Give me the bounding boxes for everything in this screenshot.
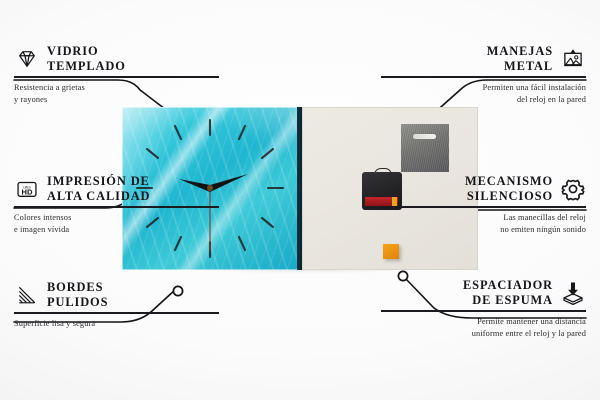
feature-description: Permite mantener una distancia uniforme … <box>381 316 586 340</box>
wall-frame-icon <box>560 46 586 72</box>
divider <box>381 206 586 208</box>
title-line-2: METAL <box>487 59 553 74</box>
feature-description: Colores intensos e imagen vívida <box>14 212 219 236</box>
desc-line-2: del reloj en la pared <box>381 94 586 106</box>
feature-title: BORDES PULIDOS <box>47 280 108 309</box>
divider <box>14 312 219 314</box>
metal-hanger-plate <box>401 124 449 172</box>
title-line-1: ESPACIADOR <box>463 278 553 293</box>
desc-line-1: Permiten una fácil instalación <box>381 82 586 94</box>
desc-line-2: y rayones <box>14 94 219 106</box>
title-line-1: MANEJAS <box>487 44 553 59</box>
title-line-2: DE ESPUMA <box>463 293 553 308</box>
desc-line-2: no emiten ningún sonido <box>381 224 586 236</box>
feature-vidrio-templado: VIDRIO TEMPLADO Resistencia a grietas y … <box>14 44 219 106</box>
diamond-icon <box>14 46 40 72</box>
title-line-2: PULIDOS <box>47 295 108 310</box>
feature-title: ESPACIADOR DE ESPUMA <box>463 278 553 307</box>
feature-title: VIDRIO TEMPLADO <box>47 44 126 73</box>
foam-spacer-icon <box>560 280 586 306</box>
foam-spacer <box>383 244 399 259</box>
title-line-1: MECANISMO <box>465 174 553 189</box>
title-line-1: IMPRESIÓN DE <box>47 174 150 189</box>
feature-description: Las manecillas del reloj no emiten ningú… <box>381 212 586 236</box>
desc-line-1: Colores intensos <box>14 212 219 224</box>
title-line-2: ALTA CALIDAD <box>47 189 150 204</box>
feature-title: MECANISMO SILENCIOSO <box>465 174 553 203</box>
feature-bordes-pulidos: BORDES PULIDOS Superficie lisa y segura <box>14 280 219 330</box>
feature-impresion-alta-calidad: ultra HD IMPRESIÓN DE ALTA CALIDAD Color… <box>14 174 219 236</box>
feature-description: Superficie lisa y segura <box>14 318 219 330</box>
title-line-2: SILENCIOSO <box>465 189 553 204</box>
divider <box>381 310 586 312</box>
feature-mecanismo-silencioso: MECANISMO SILENCIOSO Las manecillas del … <box>381 174 586 236</box>
hanger-slot <box>413 134 436 139</box>
desc-line-2: uniforme entre el reloj y la pared <box>381 328 586 340</box>
feature-espaciador-espuma: ESPACIADOR DE ESPUMA Permite mantener un… <box>381 278 586 340</box>
feature-description: Resistencia a grietas y rayones <box>14 82 219 106</box>
desc-line-2: e imagen vívida <box>14 224 219 236</box>
feature-manejas-metal: MANEJAS METAL Permiten una fácil instala… <box>381 44 586 106</box>
divider <box>14 206 219 208</box>
infographic-canvas: VIDRIO TEMPLADO Resistencia a grietas y … <box>0 0 600 400</box>
polished-edge-icon <box>14 282 40 308</box>
title-line-2: TEMPLADO <box>47 59 126 74</box>
feature-description: Permiten una fácil instalación del reloj… <box>381 82 586 106</box>
divider <box>381 76 586 78</box>
title-line-1: VIDRIO <box>47 44 126 59</box>
desc-line-1: Resistencia a grietas <box>14 82 219 94</box>
divider <box>14 76 219 78</box>
ultra-hd-icon: ultra HD <box>14 176 40 202</box>
feature-title: IMPRESIÓN DE ALTA CALIDAD <box>47 174 150 203</box>
desc-line-1: Las manecillas del reloj <box>381 212 586 224</box>
title-line-1: BORDES <box>47 280 108 295</box>
desc-line-1: Permite mantener una distancia <box>381 316 586 328</box>
feature-title: MANEJAS METAL <box>487 44 553 73</box>
svg-text:HD: HD <box>21 187 33 196</box>
desc-line-1: Superficie lisa y segura <box>14 318 219 330</box>
gear-icon <box>560 176 586 202</box>
